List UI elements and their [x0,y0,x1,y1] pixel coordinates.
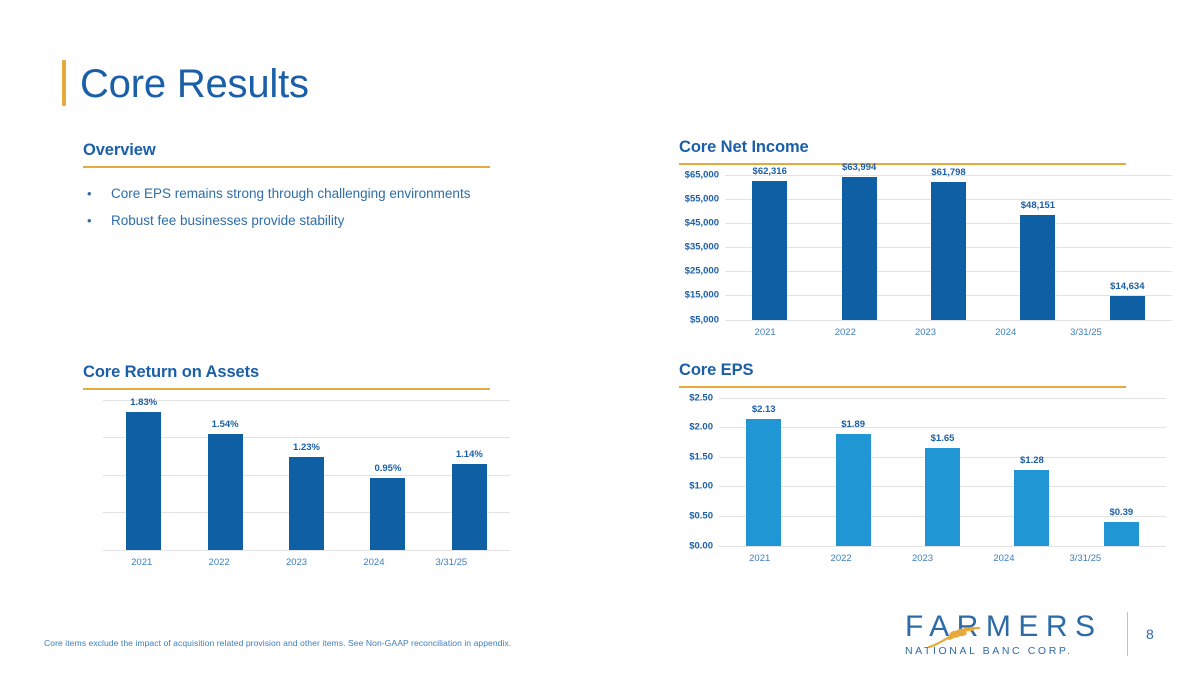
bar[interactable]: $63,994 [842,177,877,320]
overview-bullet-list: • Core EPS remains strong through challe… [83,184,490,233]
y-axis-tick-label: $45,000 [685,217,719,228]
x-axis-tick-label: 2021 [103,557,180,568]
plot-area: 1.83%1.54%1.23%0.95%1.14% [103,400,510,550]
bar-value-label: 0.95% [374,463,401,474]
bullet-icon: • [83,211,111,231]
core-return-on-assets-heading: Core Return on Assets [83,363,490,382]
core-net-income-chart: $62,316$63,994$61,798$48,151$14,634$65,0… [679,175,1126,338]
y-axis-tick-label: $1.00 [689,481,713,492]
y-axis-tick-label: $2.50 [689,392,713,403]
bar[interactable]: $1.65 [925,448,960,546]
x-axis-labels: 20212022202320243/31/25 [725,327,1126,338]
plot-area: $62,316$63,994$61,798$48,151$14,634$65,0… [725,175,1172,320]
bar[interactable]: $0.39 [1104,522,1139,545]
page-title-text: Core Results [80,60,309,106]
overview-heading: Overview [83,141,490,160]
core-eps-section: Core EPS $2.13$1.89$1.65$1.28$0.39$2.50$… [679,361,1126,564]
bar-slot: $48,151 [993,175,1082,320]
bullet-icon: • [83,184,111,204]
x-axis-tick-label: 2024 [963,553,1044,564]
x-axis-tick-label: 2024 [335,557,412,568]
x-axis-labels: 20212022202320243/31/25 [103,557,490,568]
bar-slot: $1.89 [808,398,897,546]
core-net-income-divider [679,163,1126,165]
logo-mark: FARMERS NATIONAL BANC CORP. [905,612,1103,657]
core-net-income-section: Core Net Income $62,316$63,994$61,798$48… [679,138,1126,338]
bar-slot: 1.23% [266,400,347,550]
bar-value-label: $62,316 [753,166,787,177]
x-axis-tick-label: 3/31/25 [1045,553,1126,564]
y-axis-tick-label: $2.00 [689,422,713,433]
bar[interactable]: 1.23% [289,457,324,549]
x-axis-tick-label: 3/31/25 [413,557,490,568]
y-axis-tick-label: $5,000 [690,314,719,325]
page-number: 8 [1146,626,1154,642]
bar[interactable]: 1.83% [126,412,161,549]
y-axis-labels [83,400,97,550]
core-eps-divider [679,386,1126,388]
x-axis-tick-label: 2022 [805,327,885,338]
x-axis-labels: 20212022202320243/31/25 [719,553,1126,564]
page-title: Core Results [62,60,309,106]
y-axis-labels: $2.50$2.00$1.50$1.00$0.50$0.00 [679,398,713,546]
bar-slot: 1.83% [103,400,184,550]
y-axis-tick-label: $0.00 [689,540,713,551]
bar-value-label: 1.83% [130,397,157,408]
bar-value-label: $61,798 [931,167,965,178]
list-item: • Robust fee businesses provide stabilit… [83,211,490,232]
bar[interactable]: 1.14% [452,464,487,550]
gridline [719,546,1166,547]
bar[interactable]: $1.28 [1014,470,1049,546]
bar-slot: $2.13 [719,398,808,546]
bar[interactable]: $62,316 [752,181,787,320]
bar-slot: 1.14% [429,400,510,550]
logo-divider [1127,612,1129,656]
x-axis-tick-label: 2021 [719,553,800,564]
bar-slot: $1.65 [898,398,987,546]
bar-slot: $1.28 [987,398,1076,546]
logo-wordmark: FARMERS [905,612,1103,642]
bar[interactable]: 0.95% [370,478,405,549]
bar-slot: $62,316 [725,175,814,320]
bar[interactable]: $2.13 [746,419,781,545]
footnote: Core items exclude the impact of acquisi… [44,638,511,648]
bar-value-label: 1.23% [293,442,320,453]
bar-value-label: 1.14% [456,449,483,460]
x-axis-tick-label: 2023 [258,557,335,568]
overview-divider [83,166,490,168]
bar-slot: $14,634 [1083,175,1172,320]
bar-value-label: $1.89 [841,419,865,430]
x-axis-tick-label: 2023 [882,553,963,564]
bar[interactable]: 1.54% [208,434,243,550]
core-return-on-assets-section: Core Return on Assets 1.83%1.54%1.23%0.9… [83,363,490,568]
y-axis-tick-label: $15,000 [685,290,719,301]
core-eps-heading: Core EPS [679,361,1126,380]
x-axis-tick-label: 2023 [885,327,965,338]
bar-series: 1.83%1.54%1.23%0.95%1.14% [103,400,510,550]
list-item-label: Core EPS remains strong through challeng… [111,184,490,205]
core-eps-chart: $2.13$1.89$1.65$1.28$0.39$2.50$2.00$1.50… [679,398,1126,564]
bar-slot: 0.95% [347,400,428,550]
bar-value-label: $2.13 [752,404,776,415]
bar[interactable]: $48,151 [1020,215,1055,319]
core-return-on-assets-chart: 1.83%1.54%1.23%0.95%1.14%202120222023202… [83,400,490,568]
title-accent-bar [62,60,66,106]
x-axis-tick-label: 2022 [800,553,881,564]
bar-value-label: $0.39 [1109,507,1133,518]
x-axis-tick-label: 2024 [966,327,1046,338]
bar-value-label: $63,994 [842,162,876,173]
y-axis-tick-label: $25,000 [685,266,719,277]
bar-series: $62,316$63,994$61,798$48,151$14,634 [725,175,1172,320]
list-item: • Core EPS remains strong through challe… [83,184,490,205]
bar-value-label: $14,634 [1110,281,1144,292]
bar-value-label: $1.65 [931,433,955,444]
bar-value-label: $1.28 [1020,455,1044,466]
y-axis-tick-label: $65,000 [685,169,719,180]
x-axis-tick-label: 2021 [725,327,805,338]
plot-area: $2.13$1.89$1.65$1.28$0.39$2.50$2.00$1.50… [719,398,1166,546]
bar-slot: $61,798 [904,175,993,320]
core-return-on-assets-divider [83,388,490,390]
y-axis-labels: $65,000$55,000$45,000$35,000$25,000$15,0… [679,175,719,320]
x-axis-tick-label: 3/31/25 [1046,327,1126,338]
bar[interactable]: $1.89 [836,434,871,546]
gridline [103,550,510,551]
bar-slot: $0.39 [1077,398,1166,546]
x-axis-tick-label: 2022 [180,557,257,568]
bar[interactable]: $61,798 [931,182,966,319]
bar-series: $2.13$1.89$1.65$1.28$0.39 [719,398,1166,546]
bar-slot: $63,994 [814,175,903,320]
core-net-income-heading: Core Net Income [679,138,1126,157]
overview-section: Overview • Core EPS remains strong throu… [83,141,490,239]
bar-slot: 1.54% [184,400,265,550]
company-logo: FARMERS NATIONAL BANC CORP. 8 [905,612,1154,657]
y-axis-tick-label: $35,000 [685,242,719,253]
y-axis-tick-label: $0.50 [689,510,713,521]
gridline [725,320,1172,321]
bar[interactable]: $14,634 [1110,296,1145,319]
logo-subtitle: NATIONAL BANC CORP. [905,646,1103,657]
y-axis-tick-label: $1.50 [689,451,713,462]
bar-value-label: 1.54% [212,419,239,430]
bar-value-label: $48,151 [1021,200,1055,211]
list-item-label: Robust fee businesses provide stability [111,211,490,232]
y-axis-tick-label: $55,000 [685,193,719,204]
